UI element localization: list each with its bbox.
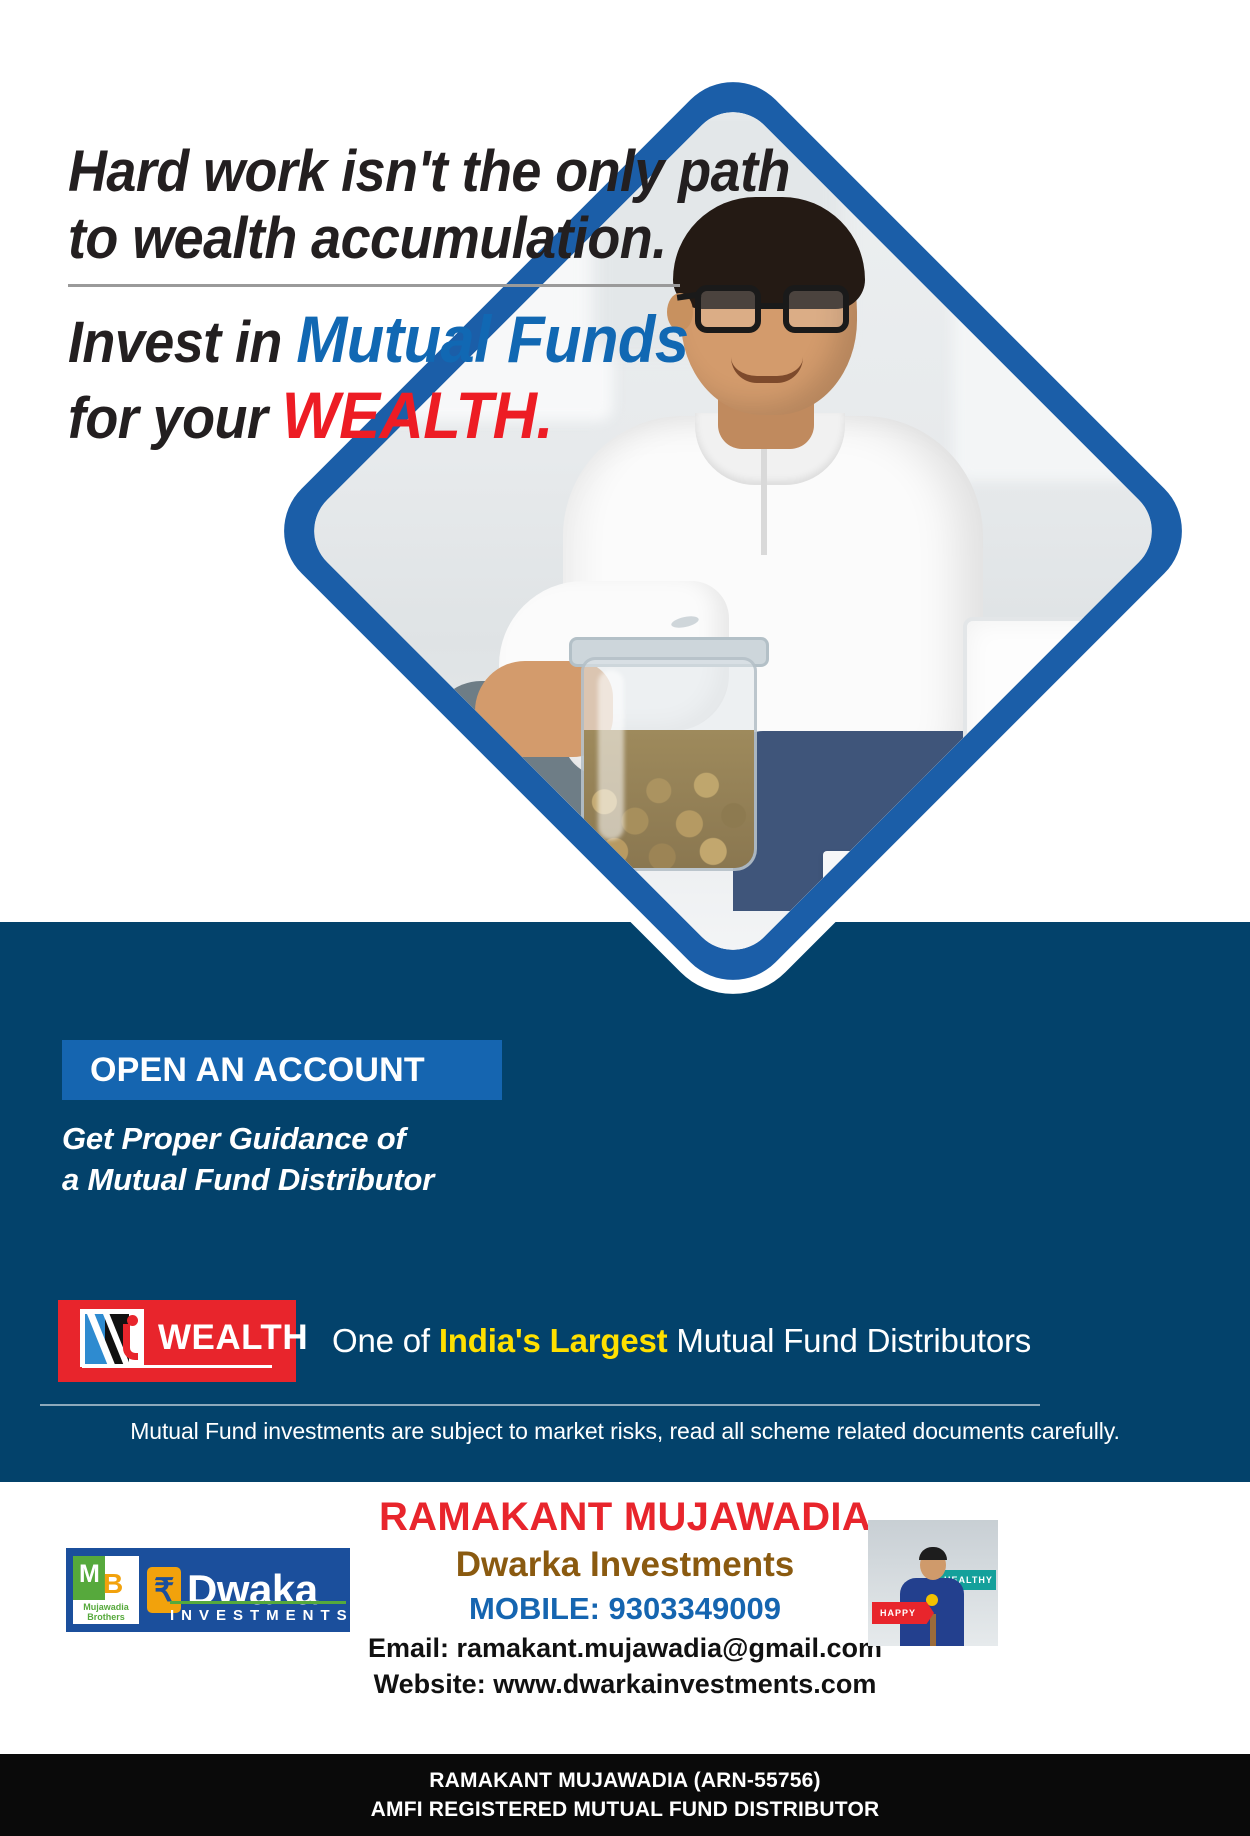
headline-line-4: for your WEALTH.: [68, 379, 719, 455]
photo-person-placket: [761, 443, 767, 555]
advisor-photo: HEALTHY HAPPY: [868, 1520, 998, 1646]
nj-wordmark: WEALTH: [158, 1318, 308, 1358]
arn-line-2: AMFI REGISTERED MUTUAL FUND DISTRIBUTOR: [371, 1795, 880, 1824]
distributor-mobile[interactable]: MOBILE: 9303349009: [0, 1588, 1250, 1630]
photo-coin-jar: [581, 657, 757, 871]
happy-sign-label: HAPPY: [872, 1602, 934, 1624]
headline-block: Hard work isn't the only path to wealth …: [68, 138, 768, 455]
nj-wealth-row: WEALTH One of India's Largest Mutual Fun…: [58, 1296, 1058, 1386]
headline-divider: [68, 284, 680, 287]
headline-for-your: for your: [68, 386, 282, 451]
headline-line-2: to wealth accumulation.: [68, 205, 719, 272]
photo-jar-highlight: [598, 670, 624, 840]
headline-wealth: WEALTH.: [282, 378, 553, 452]
contact-block: RAMAKANT MUJAWADIA Dwarka Investments MO…: [0, 1492, 1250, 1702]
advisor-signpost: [930, 1614, 936, 1646]
navy-panel: [0, 922, 1250, 1482]
distributor-website[interactable]: Website: www.dwarkainvestments.com: [0, 1666, 1250, 1702]
headline-line-3: Invest in Mutual Funds: [68, 303, 719, 379]
distributor-name: RAMAKANT MUJAWADIA: [0, 1492, 1250, 1542]
nj-tagline-highlight: India's Largest: [439, 1322, 668, 1359]
distributor-firm: Dwarka Investments: [0, 1542, 1250, 1588]
open-an-account-button[interactable]: OPEN AN ACCOUNT: [62, 1040, 502, 1100]
cta-subtext-line-2: a Mutual Fund Distributor: [62, 1159, 434, 1200]
hero-section: Hard work isn't the only path to wealth …: [0, 0, 1250, 922]
advisor-hair: [919, 1547, 947, 1560]
open-an-account-label: OPEN AN ACCOUNT: [62, 1051, 425, 1090]
distributor-email[interactable]: Email: ramakant.mujawadia@gmail.com: [0, 1630, 1250, 1666]
cta-subtext: Get Proper Guidance of a Mutual Fund Dis…: [62, 1118, 434, 1200]
disclaimer-divider: [40, 1404, 1040, 1406]
nj-tagline-prefix: One of: [332, 1322, 439, 1359]
headline-mutual-funds: Mutual Funds: [296, 302, 688, 376]
nj-monogram-dot: [127, 1315, 138, 1326]
photo-laptop-base: [923, 831, 1170, 877]
headline-invest-in: Invest in: [68, 310, 296, 375]
nj-wealth-logo: WEALTH: [58, 1300, 296, 1382]
photo-laptop-keyboard: [953, 839, 1170, 861]
nj-tagline-suffix: Mutual Fund Distributors: [667, 1322, 1031, 1359]
nj-monogram-j: [123, 1324, 138, 1360]
arn-footer-bar: RAMAKANT MUJAWADIA (ARN-55756) AMFI REGI…: [0, 1754, 1250, 1836]
arn-line-1: RAMAKANT MUJAWADIA (ARN-55756): [429, 1766, 820, 1795]
photo-glasses-right-lens: [783, 285, 849, 333]
nj-tagline: One of India's Largest Mutual Fund Distr…: [332, 1322, 1031, 1360]
headline-line-1: Hard work isn't the only path: [68, 138, 719, 205]
risk-disclaimer: Mutual Fund investments are subject to m…: [0, 1418, 1250, 1445]
cta-subtext-line-1: Get Proper Guidance of: [62, 1118, 434, 1159]
nj-underline: [82, 1365, 272, 1368]
nj-monogram-icon: [80, 1309, 144, 1367]
